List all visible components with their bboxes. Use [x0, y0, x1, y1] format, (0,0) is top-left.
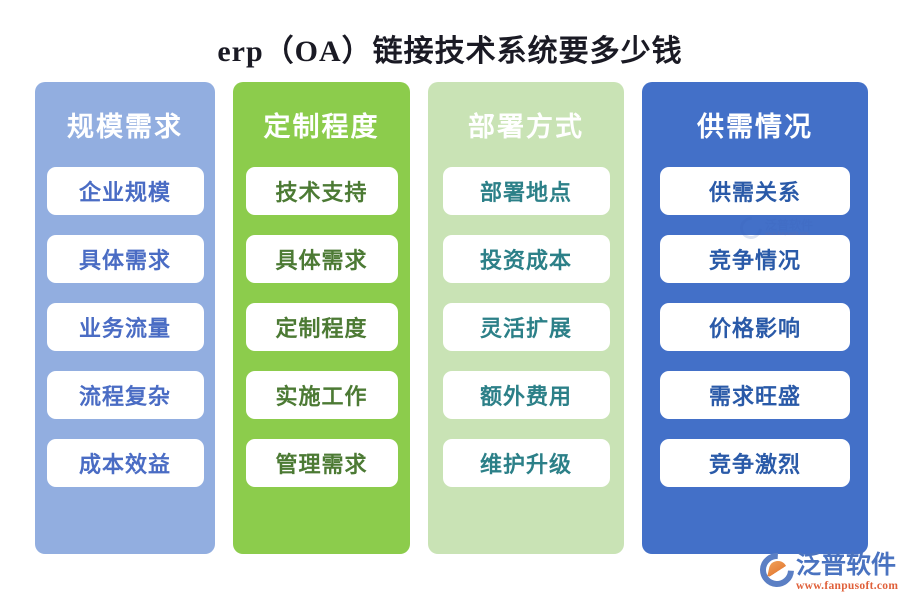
- category-column-4[interactable]: 供需情况 供需关系 竞争情况 价格影响 需求旺盛 竞争激烈 泛普软件 www.f…: [642, 82, 868, 554]
- category-columns: 规模需求 企业规模 具体需求 业务流量 流程复杂 成本效益 定制程度 技术支持 …: [35, 82, 867, 554]
- card-item[interactable]: 竞争情况: [660, 235, 850, 283]
- card-item[interactable]: 技术支持: [246, 167, 398, 215]
- page-title: erp（OA）链接技术系统要多少钱: [0, 26, 900, 70]
- card-item[interactable]: 部署地点: [443, 167, 610, 215]
- brand-name: 泛普软件: [796, 553, 898, 578]
- column-1-header: 规模需求: [67, 114, 183, 141]
- card-item[interactable]: 管理需求: [246, 439, 398, 487]
- card-item[interactable]: 实施工作: [246, 371, 398, 419]
- brand-url: www.fanpusoft.com: [796, 580, 898, 592]
- card-item[interactable]: 业务流量: [47, 303, 204, 351]
- column-gap: [410, 82, 428, 554]
- column-3-card-list: 部署地点 投资成本 灵活扩展 额外费用 维护升级: [428, 167, 624, 487]
- column-1-card-list: 企业规模 具体需求 业务流量 流程复杂 成本效益: [35, 167, 215, 487]
- column-gap: [624, 82, 642, 554]
- card-item[interactable]: 灵活扩展: [443, 303, 610, 351]
- column-4-header: 供需情况: [697, 114, 813, 141]
- card-item[interactable]: 额外费用: [443, 371, 610, 419]
- card-item[interactable]: 需求旺盛: [660, 371, 850, 419]
- card-item[interactable]: 流程复杂: [47, 371, 204, 419]
- card-item[interactable]: 具体需求: [246, 235, 398, 283]
- brand-logo: 泛普软件 www.fanpusoft.com: [760, 552, 895, 598]
- column-4-card-list: 供需关系 竞争情况 价格影响 需求旺盛 竞争激烈: [642, 167, 868, 487]
- brand-logo-text: 泛普软件 www.fanpusoft.com: [796, 553, 898, 592]
- infographic-canvas: erp（OA）链接技术系统要多少钱 规模需求 企业规模 具体需求 业务流量 流程…: [0, 0, 900, 600]
- card-item[interactable]: 竞争激烈: [660, 439, 850, 487]
- card-item[interactable]: 维护升级: [443, 439, 610, 487]
- card-item[interactable]: 成本效益: [47, 439, 204, 487]
- column-gap: [215, 82, 233, 554]
- card-item[interactable]: 供需关系: [660, 167, 850, 215]
- card-item[interactable]: 定制程度: [246, 303, 398, 351]
- card-item[interactable]: 投资成本: [443, 235, 610, 283]
- card-item[interactable]: 具体需求: [47, 235, 204, 283]
- category-column-3[interactable]: 部署方式 部署地点 投资成本 灵活扩展 额外费用 维护升级: [428, 82, 624, 554]
- category-column-1[interactable]: 规模需求 企业规模 具体需求 业务流量 流程复杂 成本效益: [35, 82, 215, 554]
- column-2-card-list: 技术支持 具体需求 定制程度 实施工作 管理需求: [233, 167, 410, 487]
- card-item[interactable]: 价格影响: [660, 303, 850, 351]
- category-column-2[interactable]: 定制程度 技术支持 具体需求 定制程度 实施工作 管理需求: [233, 82, 410, 554]
- column-3-header: 部署方式: [468, 114, 584, 141]
- column-2-header: 定制程度: [264, 114, 380, 141]
- fanpu-logo-icon: [760, 553, 794, 587]
- card-item[interactable]: 企业规模: [47, 167, 204, 215]
